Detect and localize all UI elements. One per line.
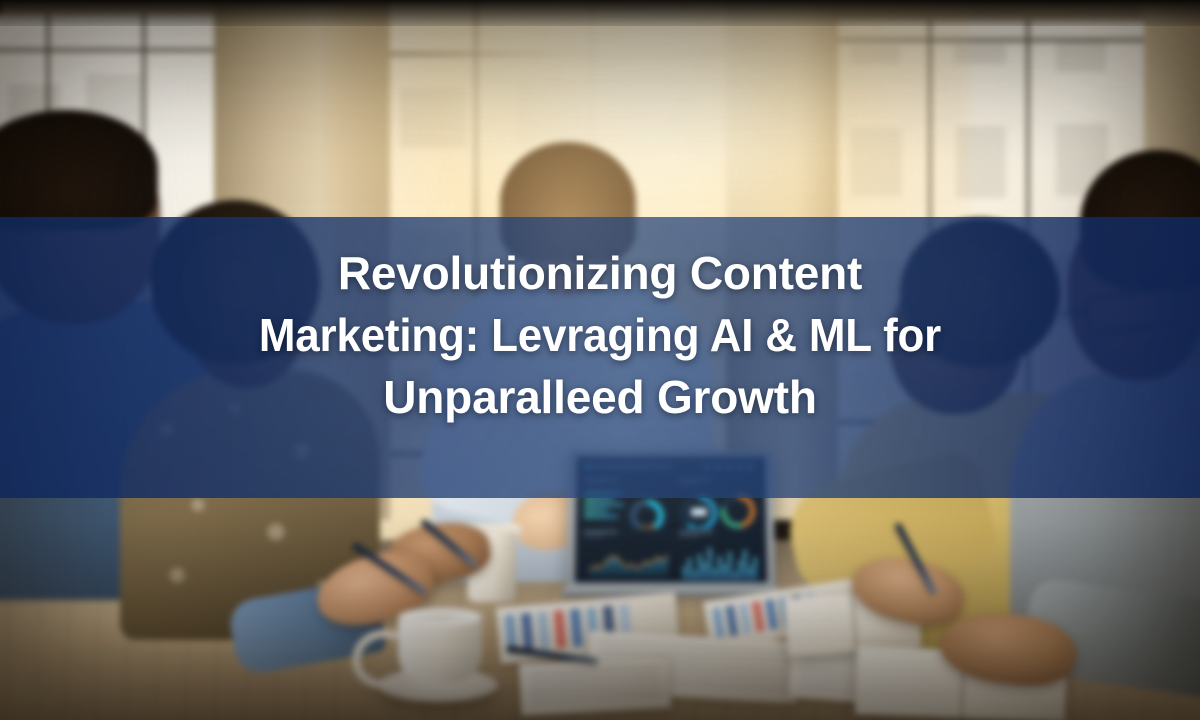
donut-gauge-secondary xyxy=(721,494,755,528)
dashboard-card-trend xyxy=(579,528,672,583)
handout-lined-paper xyxy=(519,656,672,716)
donut-gauge-value xyxy=(691,508,707,516)
hero-banner: Revolutionizing Content Marketing: Levra… xyxy=(0,0,1200,720)
dashboard-card-volume xyxy=(675,528,763,583)
coffee-cup-rim xyxy=(398,608,482,626)
mullion-horizontal xyxy=(378,52,738,56)
mullion-horizontal xyxy=(828,38,1148,42)
mullion-horizontal xyxy=(0,48,220,52)
title-overlay-band xyxy=(0,217,1200,498)
area-chart xyxy=(589,548,668,578)
